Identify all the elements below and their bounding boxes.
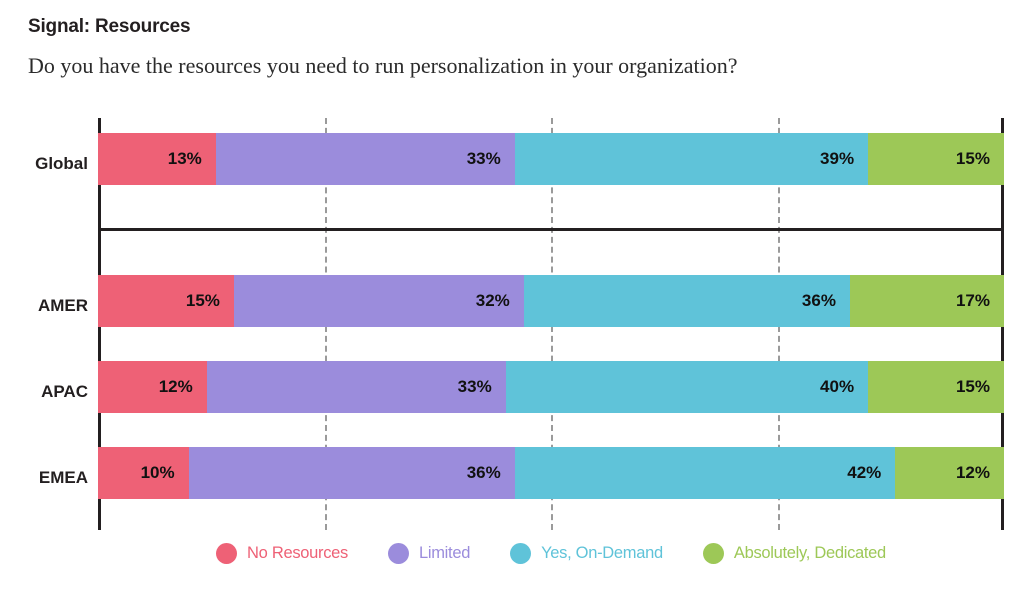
bar-segment-value: 33% [467, 149, 501, 169]
legend-item-label: Limited [419, 544, 470, 563]
bar-segment[interactable]: 10% [98, 447, 189, 499]
legend-item[interactable]: Absolutely, Dedicated [703, 543, 886, 564]
row-label-emea: EMEA [0, 468, 88, 488]
bar-segment[interactable]: 36% [524, 275, 850, 327]
bar-segment[interactable]: 13% [98, 133, 216, 185]
bar-segment[interactable]: 42% [515, 447, 896, 499]
bar-segment-value: 15% [186, 291, 220, 311]
bar-segment[interactable]: 32% [234, 275, 524, 327]
bar-segment-value: 40% [820, 377, 854, 397]
legend-item-label: Absolutely, Dedicated [734, 544, 886, 563]
bar-segment-value: 15% [956, 377, 990, 397]
group-divider [98, 228, 1004, 231]
stacked-bar-apac[interactable]: 12%33%40%15% [98, 361, 1004, 413]
legend-item-label: Yes, On-Demand [541, 544, 663, 563]
row-label-amer: AMER [0, 296, 88, 316]
bar-segment[interactable]: 15% [98, 275, 234, 327]
legend-item[interactable]: Yes, On-Demand [510, 543, 663, 564]
bar-segment[interactable]: 17% [850, 275, 1004, 327]
row-label-apac: APAC [0, 382, 88, 402]
bar-segment-value: 10% [141, 463, 175, 483]
bar-segment-value: 33% [458, 377, 492, 397]
bar-segment[interactable]: 39% [515, 133, 868, 185]
page-title: Signal: Resources [28, 16, 190, 38]
bar-segment[interactable]: 12% [98, 361, 207, 413]
legend-item-label: No Resources [247, 544, 348, 563]
chart-page: Signal: Resources Do you have the resour… [0, 0, 1024, 595]
bar-segment[interactable]: 15% [868, 361, 1004, 413]
legend-item[interactable]: Limited [388, 543, 470, 564]
stacked-bar-global[interactable]: 13%33%39%15% [98, 133, 1004, 185]
bar-segment[interactable]: 40% [506, 361, 868, 413]
stacked-bar-emea[interactable]: 10%36%42%12% [98, 447, 1004, 499]
bar-segment-value: 36% [467, 463, 501, 483]
chart-subtitle: Do you have the resources you need to ru… [28, 53, 738, 79]
legend: No ResourcesLimitedYes, On-DemandAbsolut… [98, 543, 1004, 564]
bar-segment-value: 12% [159, 377, 193, 397]
bar-segment[interactable]: 15% [868, 133, 1004, 185]
bar-segment-value: 32% [476, 291, 510, 311]
bar-segment-value: 12% [956, 463, 990, 483]
bar-segment[interactable]: 12% [895, 447, 1004, 499]
bar-segment-value: 17% [956, 291, 990, 311]
legend-dot-icon [510, 543, 531, 564]
bar-segment-value: 15% [956, 149, 990, 169]
row-label-global: Global [0, 154, 88, 174]
stacked-bar-amer[interactable]: 15%32%36%17% [98, 275, 1004, 327]
bar-segment[interactable]: 33% [207, 361, 506, 413]
bar-segment-value: 13% [168, 149, 202, 169]
bar-segment-value: 36% [802, 291, 836, 311]
category-axis-labels: Global AMER APAC EMEA [0, 118, 88, 530]
legend-item[interactable]: No Resources [216, 543, 348, 564]
bar-segment-value: 42% [847, 463, 881, 483]
bar-segment[interactable]: 33% [216, 133, 515, 185]
bar-segment[interactable]: 36% [189, 447, 515, 499]
bar-segment-value: 39% [820, 149, 854, 169]
plot-area: 13%33%39%15% 15%32%36%17% 12%33%40%15% 1… [98, 118, 1004, 530]
legend-dot-icon [703, 543, 724, 564]
legend-dot-icon [388, 543, 409, 564]
legend-dot-icon [216, 543, 237, 564]
